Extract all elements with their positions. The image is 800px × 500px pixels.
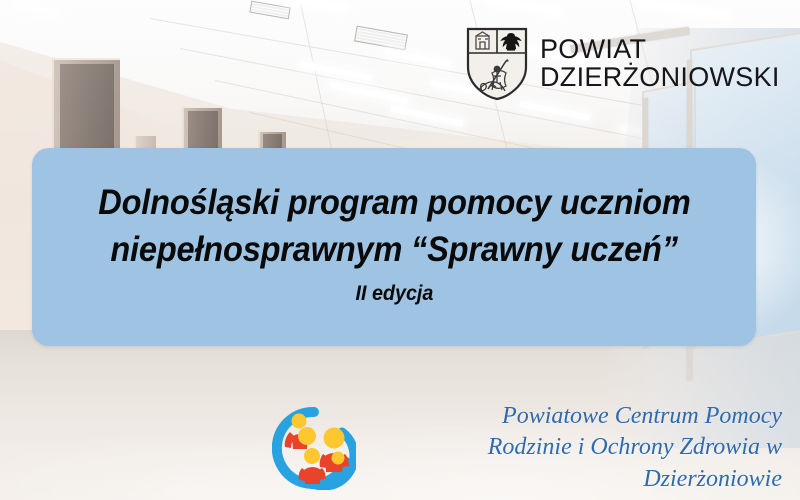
pcpr-name: Powiatowe Centrum Pomocy Rodzinie i Ochr… xyxy=(372,401,782,495)
county-name: POWIAT DZIERŻONIOWSKI xyxy=(540,36,780,91)
county-name-line2: DZIERŻONIOWSKI xyxy=(540,64,780,92)
pcpr-family-circle-logo-icon xyxy=(272,406,356,490)
pcpr-branding: Powiatowe Centrum Pomocy Rodzinie i Ochr… xyxy=(272,404,782,492)
program-title-line2: niepełnosprawnym “Sprawny uczeń” xyxy=(110,227,677,273)
program-edition-subtitle: II edycja xyxy=(355,282,433,306)
title-banner: Dolnośląski program pomocy uczniom niepe… xyxy=(32,148,756,346)
program-title-line1: Dolnośląski program pomocy uczniom xyxy=(98,180,690,226)
dzierzoniow-county-coat-of-arms-icon xyxy=(466,27,528,101)
county-branding: POWIAT DZIERŻONIOWSKI xyxy=(466,24,766,104)
poster-canvas: POWIAT DZIERŻONIOWSKI Dolnośląski progra… xyxy=(0,0,800,500)
pcpr-name-line1: Powiatowe Centrum Pomocy xyxy=(372,401,782,432)
county-name-line1: POWIAT xyxy=(540,36,780,64)
pcpr-name-line2: Rodzinie i Ochrony Zdrowia w Dzierżoniow… xyxy=(372,432,782,494)
